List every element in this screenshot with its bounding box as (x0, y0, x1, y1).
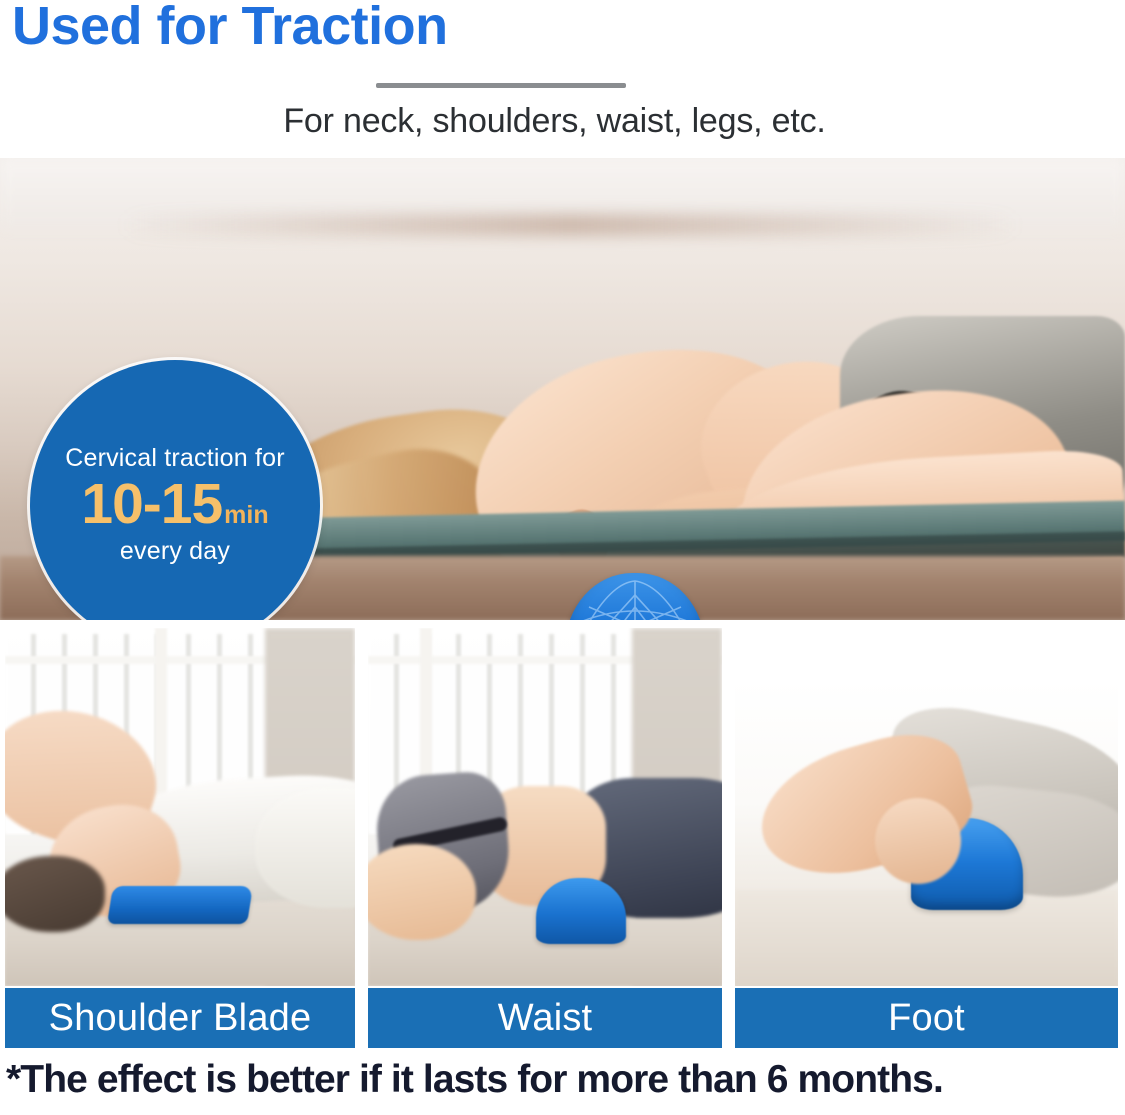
hero-shelf-blur (120, 214, 1020, 236)
product-infographic: Used for Traction For neck, shoulders, w… (0, 0, 1125, 1115)
panel-shoulder-blade (5, 628, 355, 1048)
badge-bottom-text: every day (120, 537, 230, 566)
page-subtitle: For neck, shoulders, waist, legs, etc. (0, 102, 1125, 141)
blue-traction-dome-icon (107, 886, 253, 924)
panel-row (0, 628, 1125, 1048)
badge-top-text: Cervical traction for (65, 444, 285, 473)
heel-shape (875, 798, 961, 884)
page-title: Used for Traction (12, 0, 448, 55)
title-divider (376, 83, 626, 88)
panel-photo-waist (368, 628, 722, 986)
body-part-label-foot: Foot (735, 988, 1118, 1048)
panel-photo-shoulder-blade (5, 628, 355, 986)
header-section: Used for Traction For neck, shoulders, w… (0, 0, 1125, 160)
badge-duration-value: 10-15 (81, 476, 222, 533)
panel-foot (735, 628, 1118, 1048)
head-shape (5, 856, 105, 932)
arm-shape (368, 844, 476, 940)
footer-note: *The effect is better if it lasts for mo… (6, 1054, 1119, 1106)
panel-waist (368, 628, 722, 1048)
panel-photo-foot (735, 680, 1118, 986)
body-part-label-waist: Waist (368, 988, 722, 1048)
dome-web-pattern-icon (575, 577, 695, 620)
blue-traction-dome-icon (536, 878, 626, 944)
body-part-label-row: Shoulder Blade Waist Foot (0, 988, 1125, 1048)
hero-photo-head: Cervical traction for 10-15 min every da… (0, 158, 1125, 620)
blue-traction-dome-icon (565, 573, 705, 620)
badge-duration-row: 10-15 min (81, 476, 268, 533)
body-part-label-shoulder-blade: Shoulder Blade (5, 988, 355, 1048)
badge-duration-unit: min (224, 501, 268, 530)
page-subtitle-text: For neck, shoulders, waist, legs, etc. (283, 102, 825, 141)
